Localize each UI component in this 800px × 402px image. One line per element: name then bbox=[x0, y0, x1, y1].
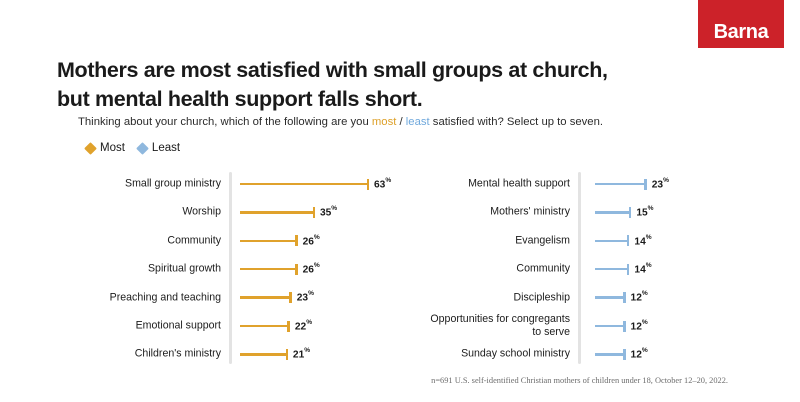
brand-name: Barna bbox=[714, 22, 769, 42]
category-label: Mental health support bbox=[420, 178, 570, 191]
bar-group: 35% bbox=[240, 206, 337, 218]
percent-symbol: % bbox=[314, 234, 320, 241]
bar-end-cap bbox=[627, 235, 629, 246]
bar-rows-most: Small group ministry63%Worship35%Communi… bbox=[80, 170, 400, 368]
category-label: Evangelism bbox=[420, 234, 570, 247]
bar-end-cap bbox=[629, 207, 631, 218]
chart-legend: Most Least bbox=[86, 142, 180, 154]
bar-line bbox=[595, 268, 627, 270]
bar-value-label: 26% bbox=[303, 235, 320, 247]
category-label: Spiritual growth bbox=[80, 263, 221, 276]
chart-row-most-3: Spiritual growth26% bbox=[80, 259, 400, 279]
bar-end-cap bbox=[287, 321, 289, 332]
legend-label-least: Least bbox=[152, 142, 180, 154]
barna-logo: Barna bbox=[698, 0, 784, 48]
chart-row-most-5: Emotional support22% bbox=[80, 316, 400, 336]
bar-group: 14% bbox=[595, 235, 652, 247]
chart-row-most-0: Small group ministry63% bbox=[80, 174, 400, 194]
bar-rows-least: Mental health support23%Mothers' ministr… bbox=[420, 170, 760, 368]
question-keyword-least: least bbox=[406, 116, 430, 128]
bar-value-label: 23% bbox=[652, 178, 669, 190]
bar-value-label: 14% bbox=[634, 263, 651, 275]
bar-end-cap bbox=[627, 264, 629, 275]
bar-end-cap bbox=[289, 292, 291, 303]
category-label: Community bbox=[420, 263, 570, 276]
bar-end-cap bbox=[313, 207, 315, 218]
chart-row-most-2: Community26% bbox=[80, 231, 400, 251]
bar-end-cap bbox=[367, 179, 369, 190]
legend-label-most: Most bbox=[100, 142, 125, 154]
question-text-part-2: satisfied with? Select up to seven. bbox=[430, 116, 603, 128]
category-label: Preaching and teaching bbox=[80, 291, 221, 304]
bar-line bbox=[240, 268, 295, 270]
chart-row-least-1: Mothers' ministry15% bbox=[420, 202, 760, 222]
bar-value-label: 12% bbox=[631, 291, 648, 303]
diamond-icon-least bbox=[136, 142, 149, 155]
bar-group: 15% bbox=[595, 206, 654, 218]
bar-value-label: 22% bbox=[295, 320, 312, 332]
headline-line-2: but mental health support falls short. bbox=[57, 85, 697, 114]
bar-line bbox=[240, 240, 295, 242]
category-label: Mothers' ministry bbox=[420, 206, 570, 219]
percent-symbol: % bbox=[642, 347, 648, 354]
percent-symbol: % bbox=[314, 262, 320, 269]
percent-symbol: % bbox=[306, 319, 312, 326]
bar-line bbox=[595, 183, 644, 185]
bar-value-label: 14% bbox=[634, 235, 651, 247]
bar-group: 12% bbox=[595, 348, 648, 360]
bar-end-cap bbox=[623, 321, 625, 332]
percent-symbol: % bbox=[304, 347, 310, 354]
percent-symbol: % bbox=[646, 234, 652, 241]
category-label: Discipleship bbox=[420, 291, 570, 304]
diamond-icon-most bbox=[84, 142, 97, 155]
bar-value-label: 63% bbox=[374, 178, 391, 190]
bar-line bbox=[595, 211, 629, 213]
legend-item-most: Most bbox=[86, 142, 125, 154]
percent-symbol: % bbox=[663, 177, 669, 184]
category-label: Worship bbox=[80, 206, 221, 219]
bar-group: 63% bbox=[240, 178, 391, 190]
bar-group: 22% bbox=[240, 320, 312, 332]
chart-row-most-1: Worship35% bbox=[80, 202, 400, 222]
bar-group: 26% bbox=[240, 235, 320, 247]
bar-line bbox=[240, 353, 286, 355]
bar-value-label: 26% bbox=[303, 263, 320, 275]
category-label: Opportunities for congregants to serve bbox=[420, 313, 570, 339]
chart-panel-most: Small group ministry63%Worship35%Communi… bbox=[80, 170, 400, 368]
category-label: Emotional support bbox=[80, 320, 221, 333]
bar-value-label: 23% bbox=[297, 291, 314, 303]
chart-footnote: n=691 U.S. self-identified Christian mot… bbox=[300, 376, 728, 385]
percent-symbol: % bbox=[642, 319, 648, 326]
question-keyword-most: most bbox=[372, 116, 396, 128]
chart-row-least-3: Community14% bbox=[420, 259, 760, 279]
chart-row-least-6: Sunday school ministry12% bbox=[420, 344, 760, 364]
bar-end-cap bbox=[295, 264, 297, 275]
question-separator: / bbox=[396, 116, 405, 128]
bar-group: 14% bbox=[595, 263, 652, 275]
bar-value-label: 12% bbox=[631, 348, 648, 360]
bar-value-label: 21% bbox=[293, 348, 310, 360]
chart-panel-least: Mental health support23%Mothers' ministr… bbox=[420, 170, 760, 368]
chart-row-least-0: Mental health support23% bbox=[420, 174, 760, 194]
chart-row-least-4: Discipleship12% bbox=[420, 288, 760, 308]
category-label: Children's ministry bbox=[80, 348, 221, 361]
headline-line-1: Mothers are most satisfied with small gr… bbox=[57, 56, 697, 85]
percent-symbol: % bbox=[646, 262, 652, 269]
chart-row-least-2: Evangelism14% bbox=[420, 231, 760, 251]
bar-line bbox=[595, 325, 623, 327]
percent-symbol: % bbox=[331, 205, 337, 212]
bar-group: 26% bbox=[240, 263, 320, 275]
bar-value-label: 35% bbox=[320, 206, 337, 218]
bar-value-label: 15% bbox=[636, 206, 653, 218]
bar-group: 12% bbox=[595, 292, 648, 304]
chart-row-least-5: Opportunities for congregants to serve12… bbox=[420, 316, 760, 336]
percent-symbol: % bbox=[642, 290, 648, 297]
bar-group: 21% bbox=[240, 348, 310, 360]
page-title: Mothers are most satisfied with small gr… bbox=[57, 56, 697, 114]
percent-symbol: % bbox=[308, 290, 314, 297]
bar-end-cap bbox=[644, 179, 646, 190]
chart-row-most-4: Preaching and teaching23% bbox=[80, 288, 400, 308]
bar-line bbox=[240, 183, 367, 185]
chart-row-most-6: Children's ministry21% bbox=[80, 344, 400, 364]
bar-end-cap bbox=[623, 349, 625, 360]
category-label: Community bbox=[80, 234, 221, 247]
legend-item-least: Least bbox=[138, 142, 180, 154]
percent-symbol: % bbox=[385, 177, 391, 184]
category-label: Small group ministry bbox=[80, 178, 221, 191]
bar-line bbox=[240, 296, 289, 298]
bar-line bbox=[595, 353, 623, 355]
bar-line bbox=[240, 325, 287, 327]
category-label: Sunday school ministry bbox=[420, 348, 570, 361]
bar-end-cap bbox=[295, 235, 297, 246]
bar-line bbox=[240, 211, 313, 213]
percent-symbol: % bbox=[648, 205, 654, 212]
question-text-part-1: Thinking about your church, which of the… bbox=[78, 116, 372, 128]
bar-end-cap bbox=[623, 292, 625, 303]
bar-end-cap bbox=[286, 349, 288, 360]
bar-group: 12% bbox=[595, 320, 648, 332]
bar-line bbox=[595, 240, 627, 242]
bar-group: 23% bbox=[240, 292, 314, 304]
bar-group: 23% bbox=[595, 178, 669, 190]
survey-question: Thinking about your church, which of the… bbox=[78, 116, 603, 128]
bar-line bbox=[595, 296, 623, 298]
bar-value-label: 12% bbox=[631, 320, 648, 332]
